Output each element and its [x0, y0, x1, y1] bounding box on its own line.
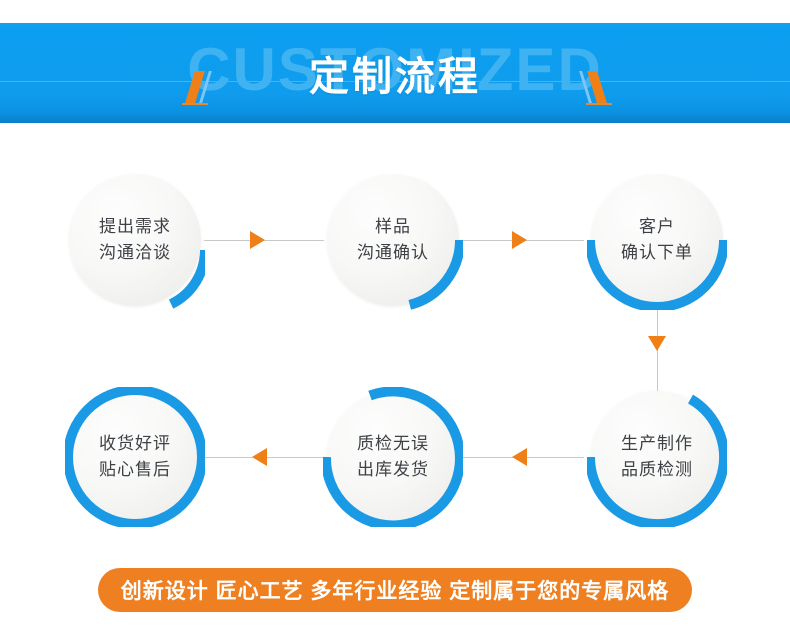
step-5-line2: 出库发货: [357, 457, 429, 483]
step-5-line1: 质检无误: [357, 431, 429, 457]
flow-step-6[interactable]: 收货好评 贴心售后: [69, 391, 201, 523]
footer-slogan-text: 创新设计 匠心工艺 多年行业经验 定制属于您的专属风格: [121, 575, 670, 605]
flow-step-2[interactable]: 样品 沟通确认: [327, 174, 459, 306]
step-4-label: 生产制作 品质检测: [591, 391, 723, 523]
step-1-line2: 沟通洽谈: [99, 240, 171, 266]
header-banner: CUSTOMIZED 定制流程: [0, 23, 790, 123]
arrow-step4-to-step5-icon: [512, 448, 527, 466]
arrow-step3-to-step4-icon: [648, 336, 666, 351]
step-2-line2: 沟通确认: [357, 240, 429, 266]
page-title: 定制流程: [0, 51, 790, 103]
step-3-label: 客户 确认下单: [591, 174, 723, 306]
arrow-step1-to-step2-icon: [250, 231, 265, 249]
arrow-step2-to-step3-icon: [512, 231, 527, 249]
flow-step-4[interactable]: 生产制作 品质检测: [591, 391, 723, 523]
step-4-line1: 生产制作: [621, 431, 693, 457]
arrow-step5-to-step6-icon: [252, 448, 267, 466]
step-5-label: 质检无误 出库发货: [327, 391, 459, 523]
flow-step-5[interactable]: 质检无误 出库发货: [327, 391, 459, 523]
step-6-label: 收货好评 贴心售后: [69, 391, 201, 523]
step-3-line1: 客户: [639, 214, 675, 240]
step-3-line2: 确认下单: [621, 240, 693, 266]
step-4-line2: 品质检测: [621, 457, 693, 483]
step-1-label: 提出需求 沟通洽谈: [69, 174, 201, 306]
step-6-line2: 贴心售后: [99, 457, 171, 483]
flow-step-3[interactable]: 客户 确认下单: [591, 174, 723, 306]
step-6-line1: 收货好评: [99, 431, 171, 457]
step-1-line1: 提出需求: [99, 214, 171, 240]
decorative-slash-left-icon: [182, 71, 212, 105]
step-2-line1: 样品: [375, 214, 411, 240]
step-2-label: 样品 沟通确认: [327, 174, 459, 306]
flow-step-1[interactable]: 提出需求 沟通洽谈: [69, 174, 201, 306]
footer-slogan-banner: 创新设计 匠心工艺 多年行业经验 定制属于您的专属风格: [98, 568, 692, 612]
decorative-slash-right-icon: [582, 71, 612, 105]
process-flow-diagram: 提出需求 沟通洽谈 样品 沟通确认 客户 确认下单: [0, 123, 790, 553]
